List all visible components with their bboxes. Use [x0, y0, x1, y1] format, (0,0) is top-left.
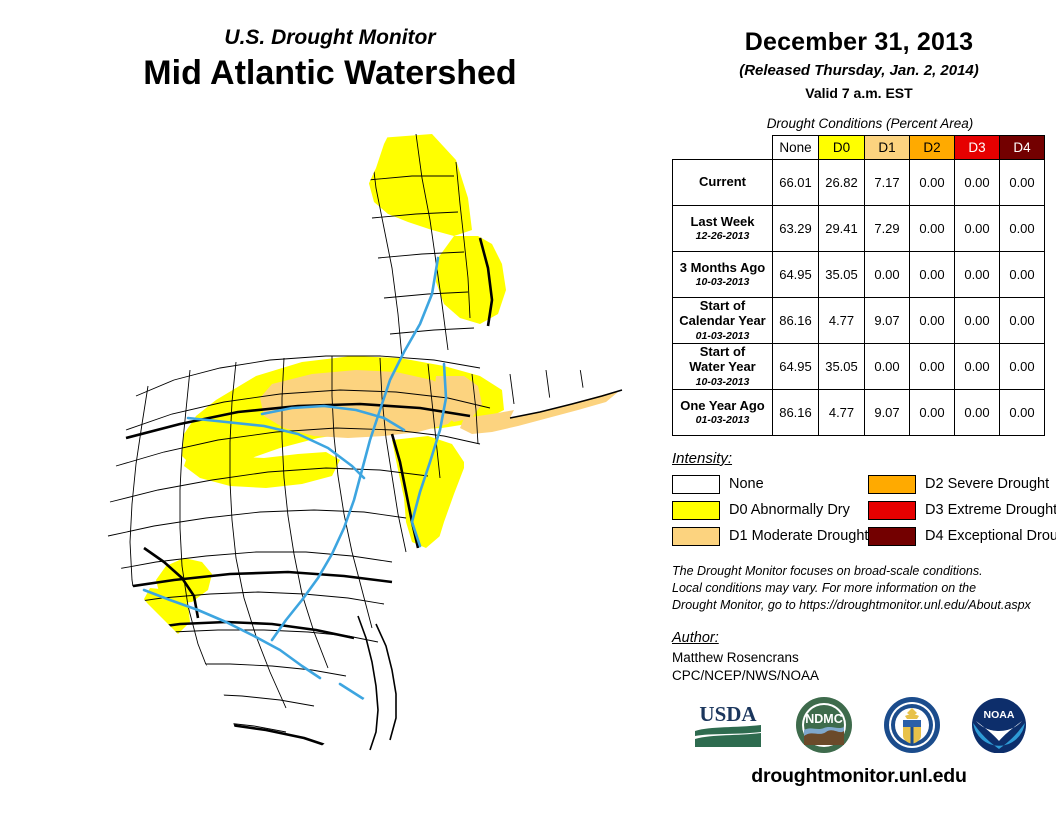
- row-label-date: 12-26-2013: [673, 230, 772, 242]
- cell-d1: 7.17: [865, 160, 910, 206]
- col-header-d0: D0: [819, 136, 865, 160]
- legend-item-d0: D0 Abnormally Dry: [672, 501, 868, 520]
- valid-time: Valid 7 a.m. EST: [662, 85, 1056, 101]
- swatch-d0-icon: [672, 501, 720, 520]
- row-label-text: Start of Calendar Year: [679, 298, 765, 328]
- cell-none: 66.01: [773, 160, 819, 206]
- disclaimer: The Drought Monitor focuses on broad-sca…: [672, 563, 1056, 614]
- cell-d2: 0.00: [910, 298, 955, 344]
- released-note: (Released Thursday, Jan. 2, 2014): [662, 62, 1056, 79]
- cell-d2: 0.00: [910, 390, 955, 436]
- date-block: December 31, 2013 (Released Thursday, Ja…: [662, 0, 1056, 101]
- drought-conditions-table: None D0 D1 D2 D3 D4 Current 66.01 26.82 …: [672, 135, 1045, 436]
- legend-item-d1: D1 Moderate Drought: [672, 527, 868, 546]
- legend-label-d4: D4 Exceptional Drought: [925, 528, 1056, 544]
- swatch-none-icon: [672, 475, 720, 494]
- release-date: December 31, 2013: [662, 28, 1056, 57]
- cell-none: 64.95: [773, 344, 819, 390]
- title-block: U.S. Drought Monitor Mid Atlantic Waters…: [0, 26, 660, 93]
- cell-d0: 35.05: [819, 344, 865, 390]
- row-label-date: 10-03-2013: [673, 376, 772, 388]
- cell-none: 64.95: [773, 252, 819, 298]
- cell-d0: 4.77: [819, 298, 865, 344]
- col-header-d2: D2: [910, 136, 955, 160]
- d0-area-shenandoah-south: [128, 658, 170, 698]
- author-affiliation: CPC/NCEP/NWS/NOAA: [672, 667, 1056, 686]
- right-panel: December 31, 2013 (Released Thursday, Ja…: [662, 0, 1056, 816]
- legend-item-none: None: [672, 475, 868, 494]
- row-label-3-months-ago: 3 Months Ago 10-03-2013: [673, 252, 773, 298]
- cell-d3: 0.00: [955, 390, 1000, 436]
- cell-d1: 0.00: [865, 252, 910, 298]
- page-supertitle: U.S. Drought Monitor: [0, 26, 660, 49]
- cell-d0: 4.77: [819, 390, 865, 436]
- intensity-heading: Intensity:: [672, 450, 1056, 467]
- swatch-d3-icon: [868, 501, 916, 520]
- usdc-seal: [883, 696, 941, 754]
- disclaimer-line-3[interactable]: Drought Monitor, go to https://droughtmo…: [672, 597, 1056, 614]
- legend-label-d3: D3 Extreme Drought: [925, 502, 1056, 518]
- swatch-d1-icon: [672, 527, 720, 546]
- usda-logo: USDA: [691, 699, 765, 751]
- row-label-text: Start of Water Year: [689, 344, 756, 374]
- cell-d4: 0.00: [1000, 252, 1045, 298]
- cell-d3: 0.00: [955, 160, 1000, 206]
- noaa-logo: NOAA: [971, 697, 1027, 753]
- col-header-none: None: [773, 136, 819, 160]
- ndmc-logo: NDMC: [795, 696, 853, 754]
- cell-d1: 9.07: [865, 298, 910, 344]
- legend-label-d1: D1 Moderate Drought: [729, 528, 868, 544]
- row-label-date: 01-03-2013: [673, 330, 772, 342]
- noaa-logo-text: NOAA: [984, 709, 1015, 721]
- legend-item-d3: D3 Extreme Drought: [868, 501, 1056, 520]
- cell-d2: 0.00: [910, 344, 955, 390]
- table-row: One Year Ago 01-03-2013 86.16 4.77 9.07 …: [673, 390, 1045, 436]
- page-title: Mid Atlantic Watershed: [0, 53, 660, 93]
- author-heading: Author:: [672, 630, 1056, 646]
- row-label-one-year-ago: One Year Ago 01-03-2013: [673, 390, 773, 436]
- cell-none: 86.16: [773, 298, 819, 344]
- cell-d4: 0.00: [1000, 344, 1045, 390]
- table-row: Start of Calendar Year 01-03-2013 86.16 …: [673, 298, 1045, 344]
- table-row: 3 Months Ago 10-03-2013 64.95 35.05 0.00…: [673, 252, 1045, 298]
- intensity-legend: None D2 Severe Drought D0 Abnormally Dry…: [672, 471, 1056, 549]
- cell-d1: 0.00: [865, 344, 910, 390]
- table-row: Last Week 12-26-2013 63.29 29.41 7.29 0.…: [673, 206, 1045, 252]
- row-label-start-calendar-year: Start of Calendar Year 01-03-2013: [673, 298, 773, 344]
- col-header-d1: D1: [865, 136, 910, 160]
- row-label-last-week: Last Week 12-26-2013: [673, 206, 773, 252]
- ndmc-logo-text: NDMC: [805, 712, 843, 726]
- table-body: Current 66.01 26.82 7.17 0.00 0.00 0.00 …: [673, 160, 1045, 436]
- disclaimer-line-2: Local conditions may vary. For more info…: [672, 580, 1056, 597]
- row-label-text: Last Week: [690, 214, 754, 229]
- cell-d2: 0.00: [910, 206, 955, 252]
- table-caption: Drought Conditions (Percent Area): [684, 116, 1056, 131]
- site-url[interactable]: droughtmonitor.unl.edu: [662, 765, 1056, 788]
- cell-d4: 0.00: [1000, 298, 1045, 344]
- disclaimer-line-1: The Drought Monitor focuses on broad-sca…: [672, 563, 1056, 580]
- col-header-d3: D3: [955, 136, 1000, 160]
- logo-row: USDA NDMC: [662, 688, 1056, 762]
- row-label-text: One Year Ago: [680, 398, 765, 413]
- table-row: Current 66.01 26.82 7.17 0.00 0.00 0.00: [673, 160, 1045, 206]
- usda-logo-text: USDA: [699, 702, 757, 726]
- cell-d1: 7.29: [865, 206, 910, 252]
- row-label-date: 01-03-2013: [673, 414, 772, 426]
- cell-d2: 0.00: [910, 160, 955, 206]
- row-label-text: Current: [699, 174, 746, 189]
- table-header-row: None D0 D1 D2 D3 D4: [673, 136, 1045, 160]
- row-label-text: 3 Months Ago: [680, 260, 765, 275]
- cell-none: 63.29: [773, 206, 819, 252]
- cell-d0: 35.05: [819, 252, 865, 298]
- legend-label-d0: D0 Abnormally Dry: [729, 502, 850, 518]
- cell-none: 86.16: [773, 390, 819, 436]
- table-header: None D0 D1 D2 D3 D4: [673, 136, 1045, 160]
- col-header-d4: D4: [1000, 136, 1045, 160]
- drought-map: [40, 118, 660, 798]
- row-label-current: Current: [673, 160, 773, 206]
- cell-d0: 29.41: [819, 206, 865, 252]
- cell-d4: 0.00: [1000, 160, 1045, 206]
- cell-d3: 0.00: [955, 252, 1000, 298]
- row-label-date: 10-03-2013: [673, 276, 772, 288]
- swatch-d4-icon: [868, 527, 916, 546]
- map-base-layer: [94, 128, 626, 766]
- cell-d3: 0.00: [955, 206, 1000, 252]
- cell-d1: 9.07: [865, 390, 910, 436]
- table-row: Start of Water Year 10-03-2013 64.95 35.…: [673, 344, 1045, 390]
- drought-monitor-page: U.S. Drought Monitor Mid Atlantic Waters…: [0, 0, 1056, 816]
- swatch-d2-icon: [868, 475, 916, 494]
- cell-d4: 0.00: [1000, 390, 1045, 436]
- cell-d3: 0.00: [955, 344, 1000, 390]
- table-corner-cell: [673, 136, 773, 160]
- cell-d0: 26.82: [819, 160, 865, 206]
- legend-label-none: None: [729, 476, 764, 492]
- cell-d2: 0.00: [910, 252, 955, 298]
- legend-item-d4: D4 Exceptional Drought: [868, 527, 1056, 546]
- row-label-start-water-year: Start of Water Year 10-03-2013: [673, 344, 773, 390]
- cell-d3: 0.00: [955, 298, 1000, 344]
- legend-label-d2: D2 Severe Drought: [925, 476, 1049, 492]
- cell-d4: 0.00: [1000, 206, 1045, 252]
- author-name: Matthew Rosencrans: [672, 649, 1056, 668]
- legend-item-d2: D2 Severe Drought: [868, 475, 1056, 494]
